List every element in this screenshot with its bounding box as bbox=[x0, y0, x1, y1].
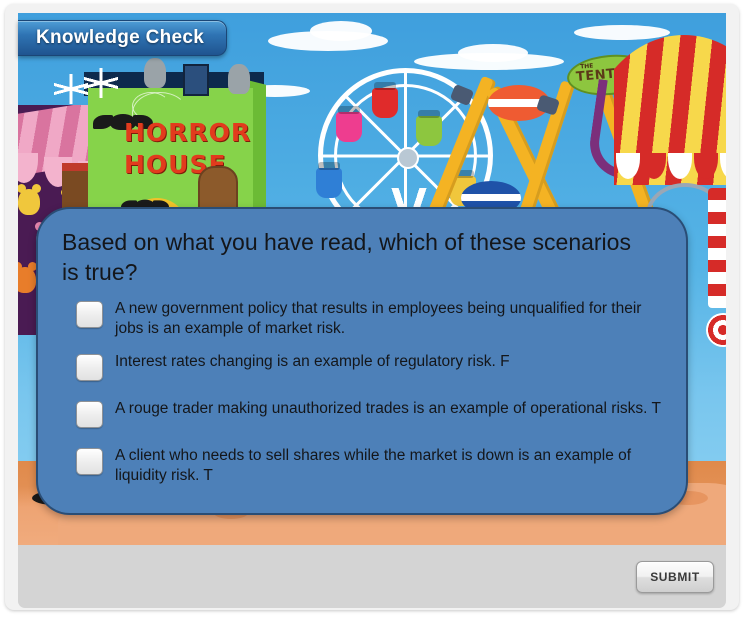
question-panel: Based on what you have read, which of th… bbox=[36, 207, 688, 515]
ferris-spoke bbox=[320, 154, 406, 157]
answer-option[interactable]: A client who needs to sell shares while … bbox=[76, 446, 676, 486]
spiky-plant-icon bbox=[54, 74, 88, 104]
submit-button[interactable]: SUBMIT bbox=[636, 561, 714, 593]
ferris-gondola bbox=[372, 88, 398, 118]
ferris-spoke bbox=[404, 70, 407, 156]
answer-options-list: A new government policy that results in … bbox=[76, 299, 676, 499]
ferris-gondola bbox=[316, 168, 342, 198]
cloud-icon bbox=[310, 21, 372, 41]
answer-option-label: A new government policy that results in … bbox=[115, 299, 671, 339]
horror-house-attraction: HORROR HOUSE bbox=[88, 68, 268, 218]
gargoyle-statue-icon bbox=[228, 64, 250, 94]
answer-option-label: A rouge trader making unauthorized trade… bbox=[115, 399, 661, 419]
answer-option[interactable]: Interest rates changing is an example of… bbox=[76, 352, 676, 386]
teddy-bear-prize bbox=[18, 267, 36, 293]
answer-option-label: Interest rates changing is an example of… bbox=[115, 352, 510, 372]
ferris-wheel-hub bbox=[397, 147, 419, 169]
cloud-icon bbox=[458, 44, 528, 62]
answer-checkbox[interactable] bbox=[76, 354, 103, 381]
question-prompt: Based on what you have read, which of th… bbox=[62, 227, 642, 287]
submit-button-label: SUBMIT bbox=[650, 570, 700, 584]
horror-house-sign-line1: HORROR bbox=[124, 118, 251, 147]
striped-tower-ride bbox=[708, 188, 726, 308]
ferris-gondola bbox=[416, 116, 442, 146]
answer-option[interactable]: A rouge trader making unauthorized trade… bbox=[76, 399, 676, 433]
page-title: Knowledge Check bbox=[36, 27, 204, 49]
ride-pod-stripe bbox=[461, 194, 521, 201]
answer-option[interactable]: A new government policy that results in … bbox=[76, 299, 676, 339]
player-footer-bar: SUBMIT bbox=[18, 545, 726, 608]
course-player-frame: HORROR HOUSE bbox=[0, 0, 750, 622]
teddy-bear-prize bbox=[18, 189, 40, 215]
spiral-candy-decoration bbox=[706, 313, 726, 347]
answer-checkbox[interactable] bbox=[76, 401, 103, 428]
answer-checkbox[interactable] bbox=[76, 301, 103, 328]
spiky-plant-icon bbox=[84, 68, 118, 98]
knowledge-check-title-tab: Knowledge Check bbox=[18, 20, 227, 56]
gargoyle-statue-icon bbox=[144, 58, 166, 88]
answer-checkbox[interactable] bbox=[76, 448, 103, 475]
ferris-gondola bbox=[336, 112, 362, 142]
horror-house-window bbox=[183, 64, 209, 96]
answer-option-label: A client who needs to sell shares while … bbox=[115, 446, 671, 486]
circus-tent bbox=[614, 35, 726, 185]
canopy-scallop bbox=[18, 153, 38, 183]
